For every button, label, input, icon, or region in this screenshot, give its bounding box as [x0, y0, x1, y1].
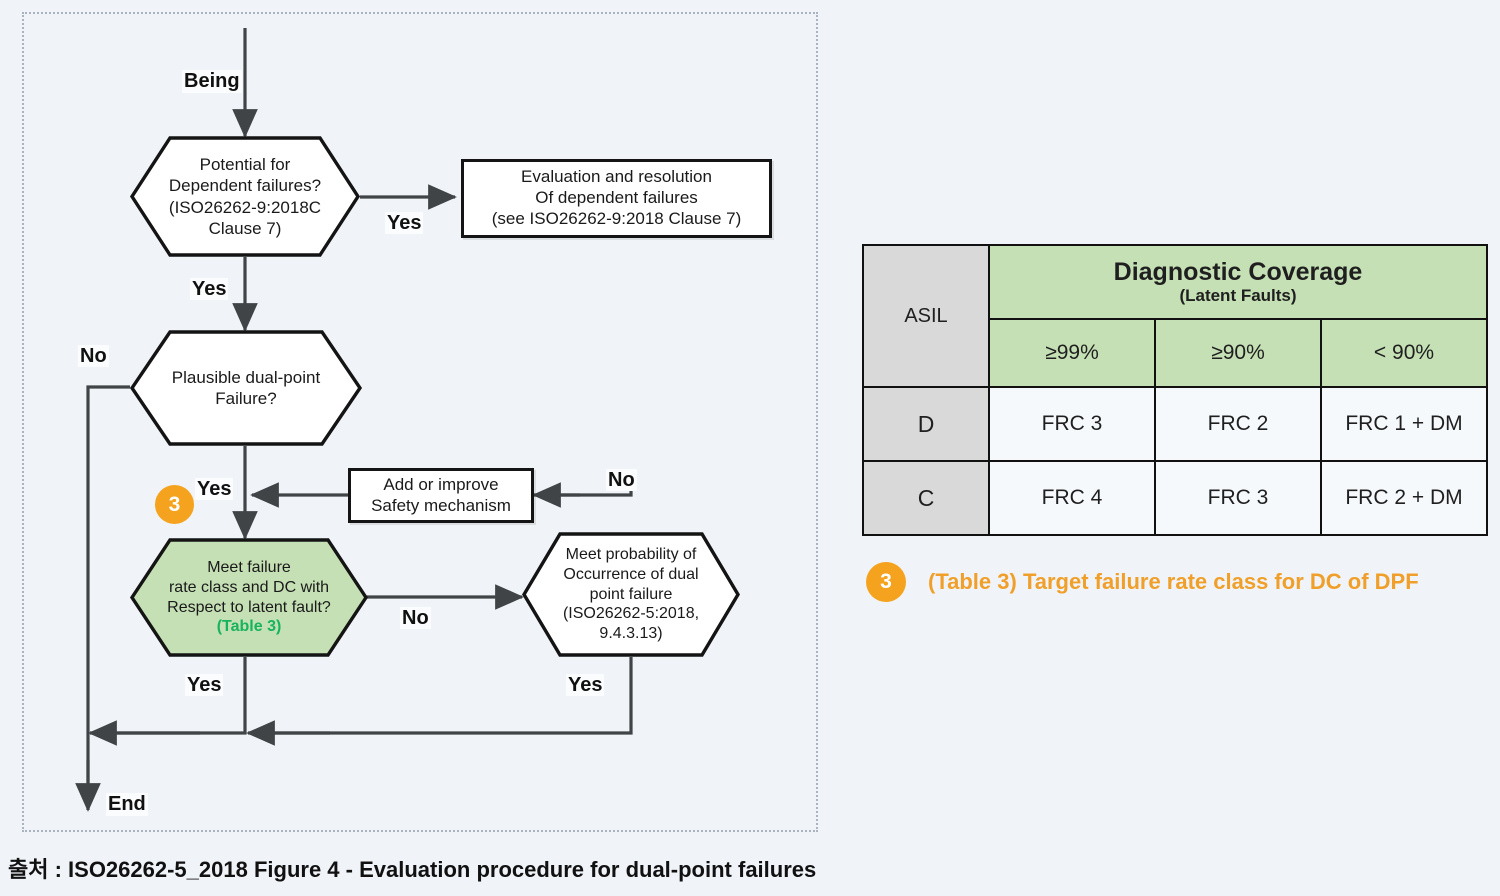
- table-group-header: Diagnostic Coverage (Latent Faults): [989, 245, 1487, 319]
- table-cell: FRC 3: [1155, 461, 1321, 535]
- text-line: Evaluation and resolution: [521, 167, 712, 188]
- flow-start-label: Being: [182, 70, 242, 93]
- table-cell: FRC 1 + DM: [1321, 387, 1487, 461]
- table-column-header-1: ≥99%: [989, 319, 1155, 387]
- badge-flow-3: 3: [155, 485, 194, 524]
- node-add-or-improve-safety-mechanism[interactable]: Add or improve Safety mechanism: [348, 468, 534, 523]
- table-column-header-3: < 90%: [1321, 319, 1487, 387]
- table-cell: FRC 2: [1155, 387, 1321, 461]
- hexagon-shape: [522, 532, 740, 657]
- flow-end-label: End: [106, 793, 148, 816]
- edge-label-plausible-yes: Yes: [195, 478, 233, 500]
- edge-label-potential-yes-down: Yes: [190, 278, 228, 300]
- table-row: D FRC 3 FRC 2 FRC 1 + DM: [863, 387, 1487, 461]
- node-plausible-dual-point-failure[interactable]: Plausible dual-point Failure?: [130, 330, 362, 446]
- table-row: C FRC 4 FRC 3 FRC 2 + DM: [863, 461, 1487, 535]
- node-potential-dependent-failures[interactable]: Potential for Dependent failures? (ISO26…: [130, 136, 360, 257]
- table-caption-text: (Table 3) Target failure rate class for …: [928, 569, 1419, 595]
- figure-canvas: Being Potential for Dependent failures? …: [0, 0, 1500, 896]
- node-meet-failure-rate-class[interactable]: Meet failure rate class and DC with Resp…: [130, 538, 368, 657]
- source-caption: 출처 : ISO26262-5_2018 Figure 4 - Evaluati…: [8, 852, 816, 884]
- table-row-asil: D: [863, 387, 989, 461]
- table-caption-row: 3 (Table 3) Target failure rate class fo…: [866, 562, 1419, 602]
- text-line: Safety mechanism: [371, 496, 511, 517]
- table-header-row-1: ASIL Diagnostic Coverage (Latent Faults): [863, 245, 1487, 319]
- edge-label-potential-yes-right: Yes: [385, 212, 423, 234]
- table-cell: FRC 3: [989, 387, 1155, 461]
- text-line: Of dependent failures: [535, 188, 698, 209]
- edge-label-meet-failure-yes: Yes: [185, 674, 223, 696]
- edge-label-plausible-no: No: [78, 345, 109, 367]
- table-corner-header: ASIL: [863, 245, 989, 387]
- edge-label-meet-probability-no: No: [606, 469, 637, 491]
- group-header-subtitle: (Latent Faults): [990, 286, 1486, 306]
- table-column-header-2: ≥90%: [1155, 319, 1321, 387]
- table-cell: FRC 2 + DM: [1321, 461, 1487, 535]
- edge-label-meet-failure-no: No: [400, 607, 431, 629]
- node-evaluation-and-resolution[interactable]: Evaluation and resolution Of dependent f…: [461, 159, 772, 238]
- table-cell: FRC 4: [989, 461, 1155, 535]
- group-header-title: Diagnostic Coverage: [990, 258, 1486, 286]
- table-row-asil: C: [863, 461, 989, 535]
- hexagon-shape: [130, 136, 360, 257]
- diagnostic-coverage-table: ASIL Diagnostic Coverage (Latent Faults)…: [862, 244, 1488, 536]
- edge-label-meet-probability-yes: Yes: [566, 674, 604, 696]
- node-meet-probability-of-occurrence[interactable]: Meet probability of Occurrence of dual p…: [522, 532, 740, 657]
- hexagon-shape: [130, 330, 362, 446]
- text-line: (see ISO26262-9:2018 Clause 7): [492, 209, 742, 230]
- hexagon-shape: [130, 538, 368, 657]
- text-line: Add or improve: [383, 475, 498, 496]
- badge-table-3: 3: [866, 562, 906, 602]
